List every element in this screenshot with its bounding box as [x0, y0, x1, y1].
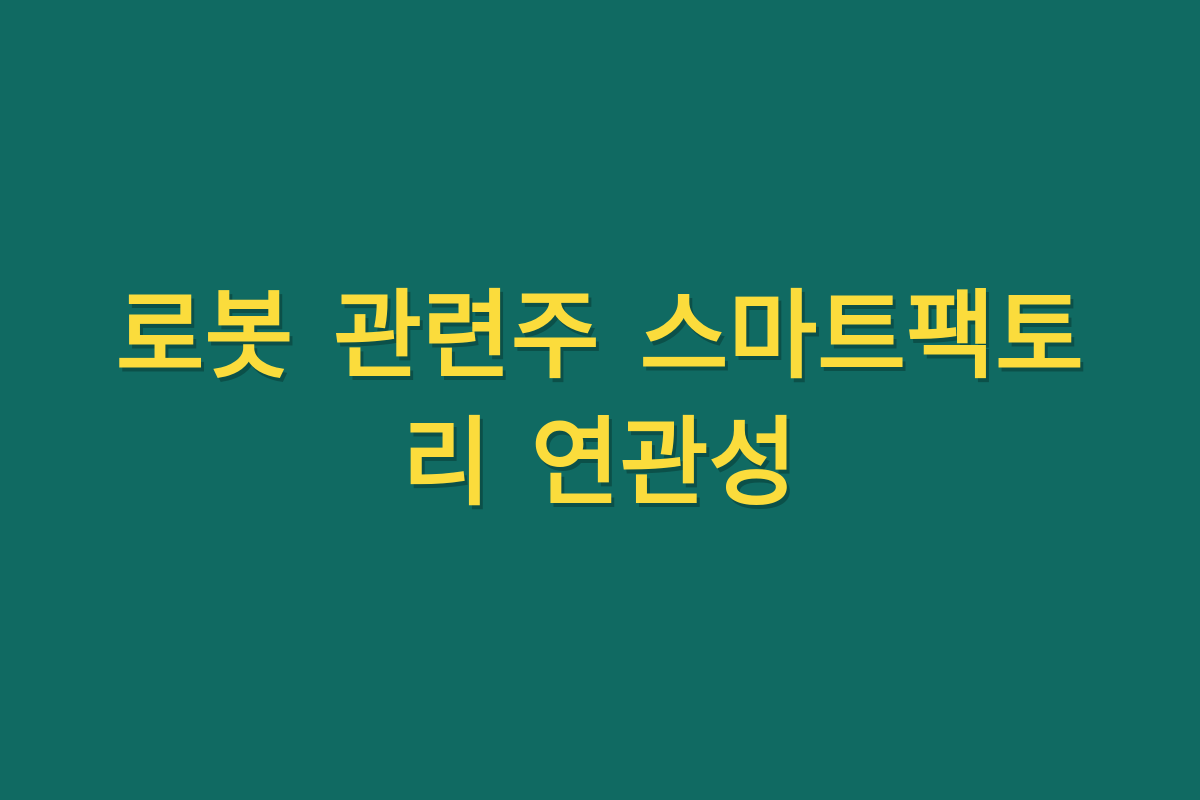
page-title: 로봇 관련주 스마트팩토리 연관성 [80, 273, 1120, 526]
headline-block: 로봇 관련주 스마트팩토리 연관성 [70, 273, 1130, 526]
text-banner: 로봇 관련주 스마트팩토리 연관성 [0, 0, 1200, 800]
